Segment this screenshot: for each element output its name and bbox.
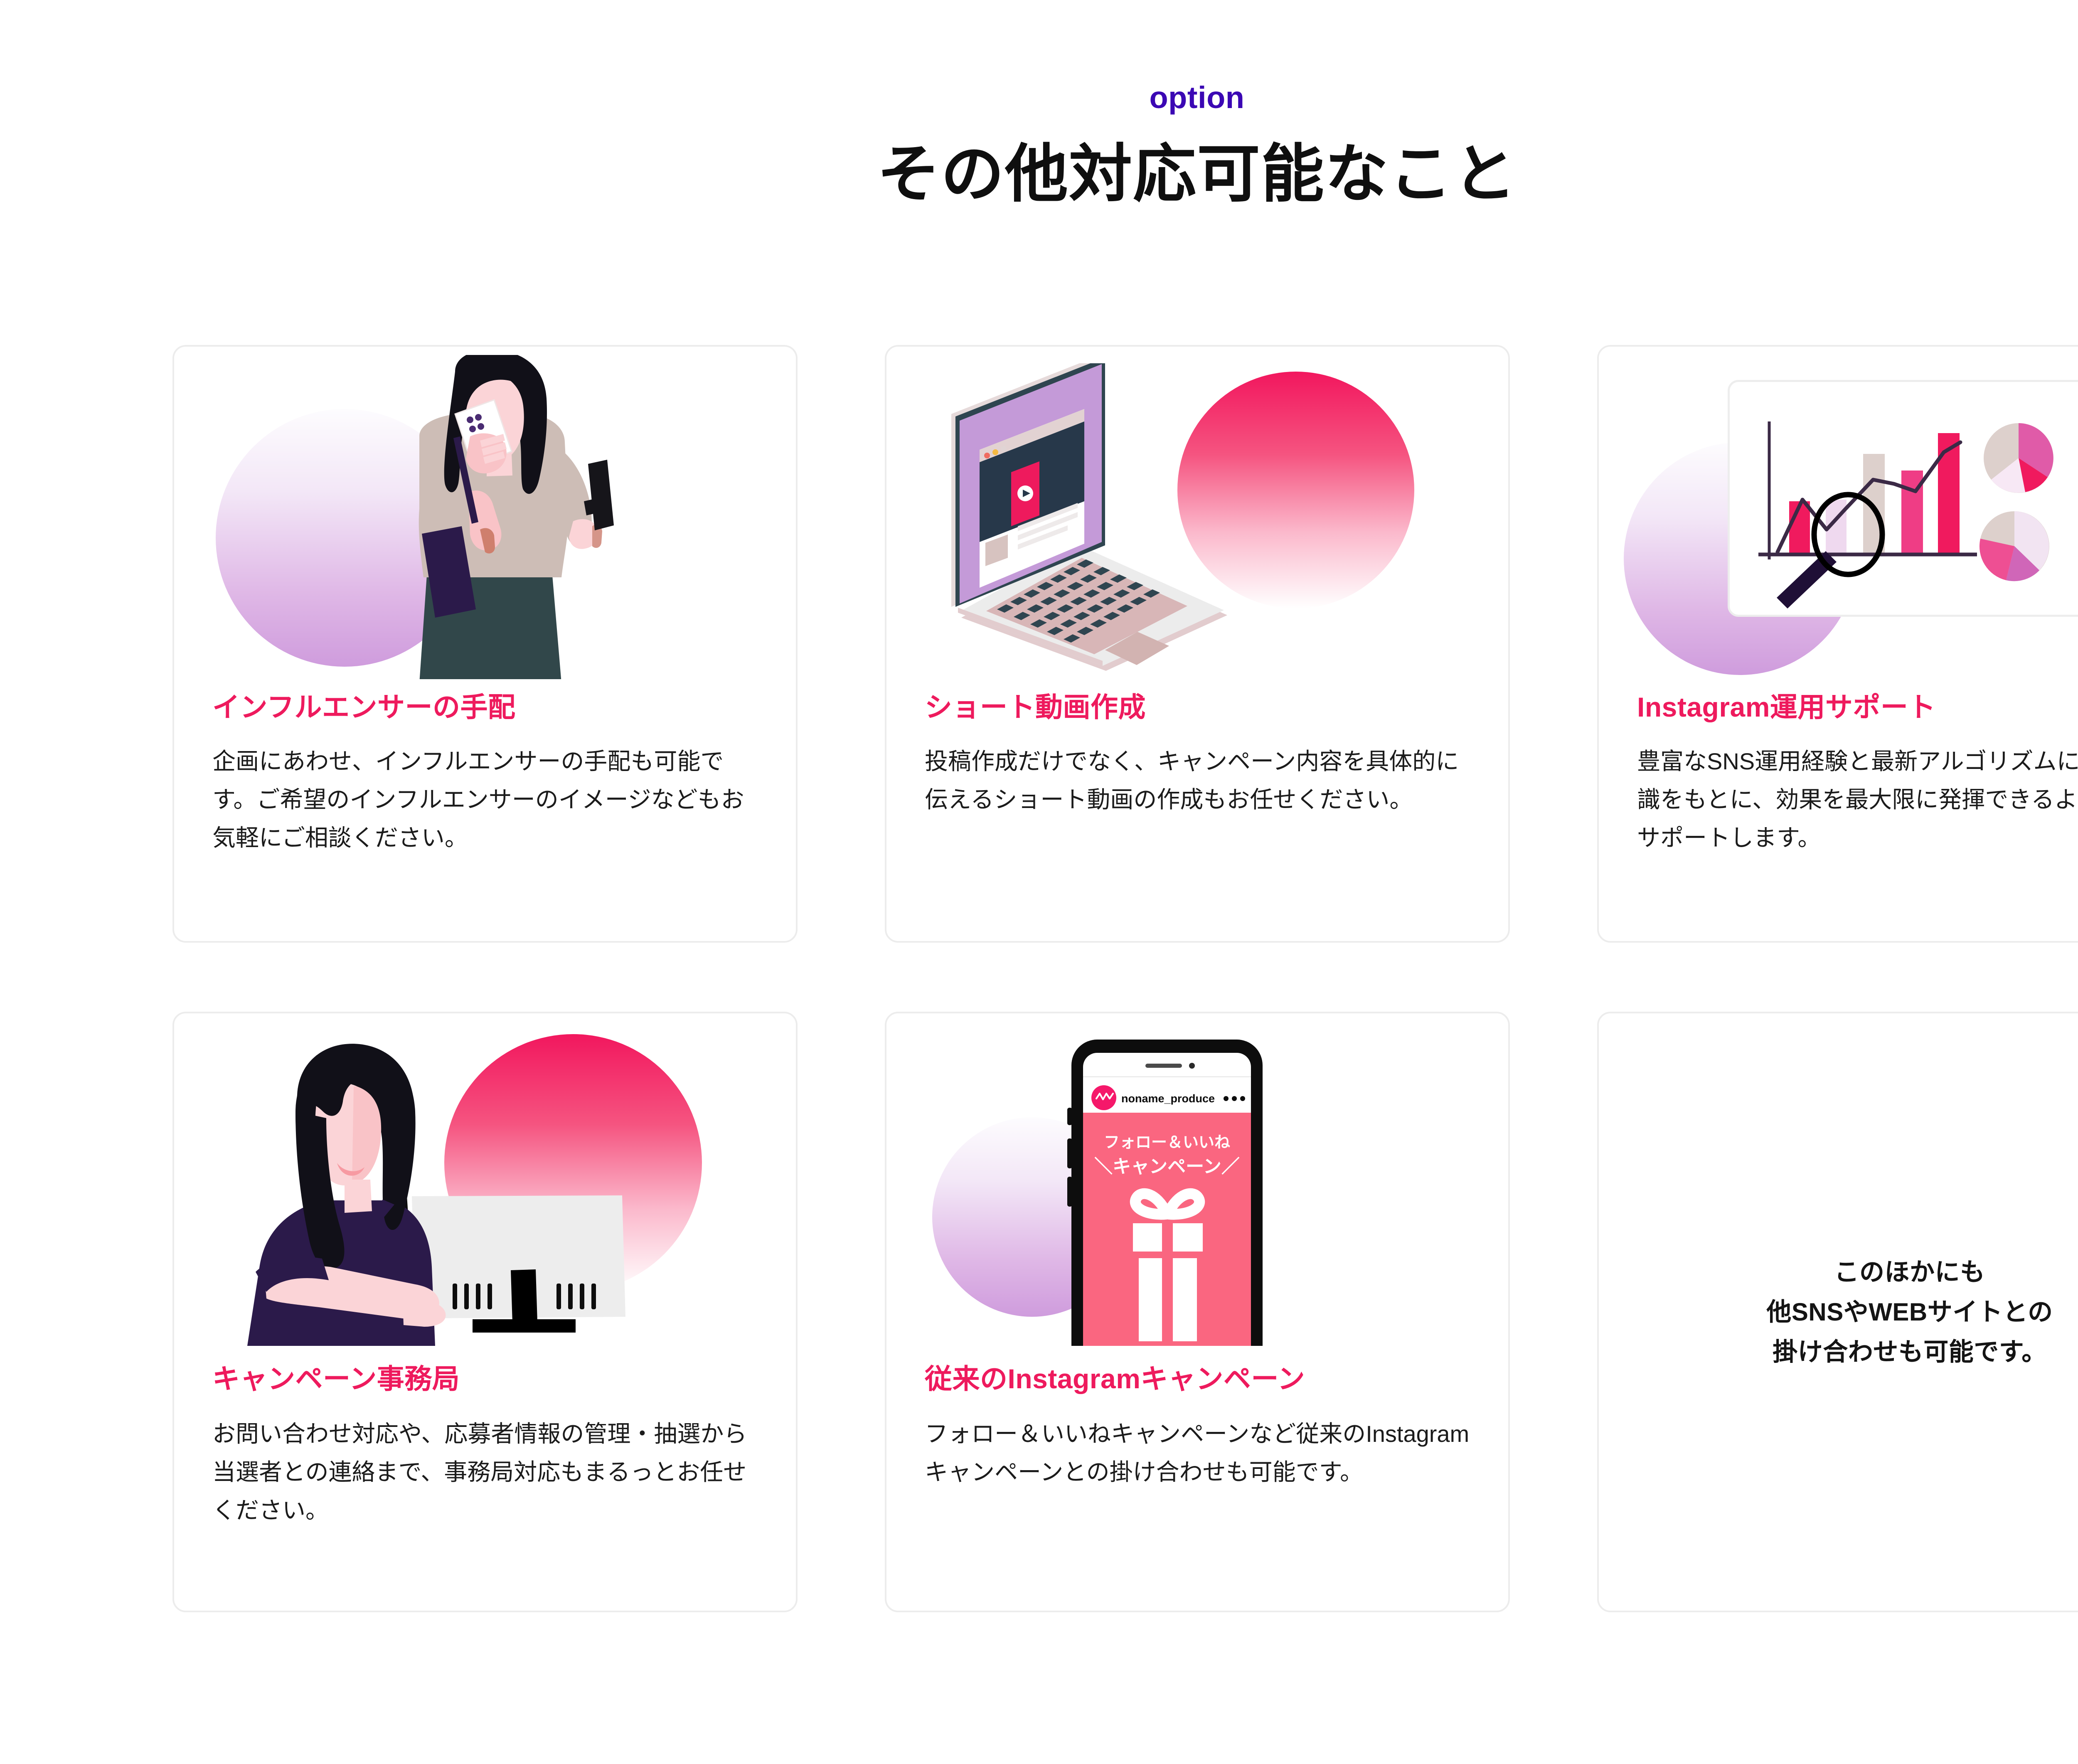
instagram-account-name: noname_produce — [1121, 1092, 1215, 1105]
option-card-instagram-operation-support[interactable]: Instagram運用サポート 豊富なSNS運用経験と最新アルゴリズムに関する知… — [1597, 345, 2078, 943]
illustration-woman-with-smartphone — [174, 347, 798, 679]
card-title: Instagram運用サポート — [1637, 690, 1936, 724]
card-title: ショート動画作成 — [925, 690, 1146, 724]
woman-smartphone-figure — [357, 355, 623, 679]
note-line-3: 掛け合わせも可能です。 — [1599, 1332, 2078, 1372]
page-title: その他対応可能なこと — [0, 138, 2078, 211]
illustration-isometric-laptop-video — [886, 347, 1510, 679]
note-line-1: このほかにも — [1599, 1252, 2078, 1292]
section-eyebrow: option — [0, 82, 2078, 113]
option-card-other-note[interactable]: このほかにも 他SNSやWEBサイトとの 掛け合わせも可能です。 — [1597, 1012, 2078, 1612]
card-body: フォロー＆いいねキャンペーンなど従来のInstagramキャンペーンとの掛け合わ… — [925, 1415, 1477, 1491]
card-body: 豊富なSNS運用経験と最新アルゴリズムに関する知識をもとに、効果を最大限に発揮で… — [1637, 742, 2078, 857]
illustration-smartphone-instagram-post: noname_produce フォロー＆いいね ＼キャンペーン／ — [886, 1013, 1510, 1346]
isometric-laptop-figure — [936, 363, 1323, 671]
illustration-woman-at-computer — [174, 1013, 798, 1346]
post-headline-line2: ＼キャンペーン／ — [1094, 1156, 1240, 1177]
smartphone-mock: noname_produce フォロー＆いいね ＼キャンペーン／ — [1067, 1036, 1267, 1346]
post-headline-line1: フォロー＆いいね — [1104, 1134, 1230, 1151]
illustration-analytics-dashboard — [1599, 347, 2078, 679]
card-title: 従来のInstagramキャンペーン — [925, 1362, 1305, 1396]
option-card-grid: インフルエンサーの手配 企画にあわせ、インフルエンサーの手配も可能です。ご希望の… — [172, 345, 2078, 1612]
card-title: インフルエンサーの手配 — [212, 690, 516, 724]
card-body: 投稿作成だけでなく、キャンペーン内容を具体的に伝えるショート動画の作成もお任せく… — [925, 742, 1477, 819]
card-body: お問い合わせ対応や、応募者情報の管理・抽選から当選者との連絡まで、事務局対応もま… — [212, 1415, 765, 1530]
option-section: option その他対応可能なこと — [0, 0, 2078, 1764]
woman-computer-figure — [220, 1034, 635, 1346]
note-text: このほかにも 他SNSやWEBサイトとの 掛け合わせも可能です。 — [1599, 1252, 2078, 1372]
note-line-2: 他SNSやWEBサイトとの — [1599, 1292, 2078, 1332]
option-card-influencer-arrangement[interactable]: インフルエンサーの手配 企画にあわせ、インフルエンサーの手配も可能です。ご希望の… — [172, 345, 798, 943]
card-body: 企画にあわせ、インフルエンサーの手配も可能です。ご希望のインフルエンサーのイメー… — [212, 742, 765, 857]
option-card-traditional-instagram-campaign[interactable]: noname_produce フォロー＆いいね ＼キャンペーン／ — [885, 1012, 1510, 1612]
bar-line-pie-chart-figure — [1728, 380, 2078, 613]
card-title: キャンペーン事務局 — [212, 1362, 460, 1396]
option-card-short-video-production[interactable]: ショート動画作成 投稿作成だけでなく、キャンペーン内容を具体的に伝えるショート動… — [885, 345, 1510, 943]
option-card-campaign-office[interactable]: キャンペーン事務局 お問い合わせ対応や、応募者情報の管理・抽選から当選者との連絡… — [172, 1012, 798, 1612]
